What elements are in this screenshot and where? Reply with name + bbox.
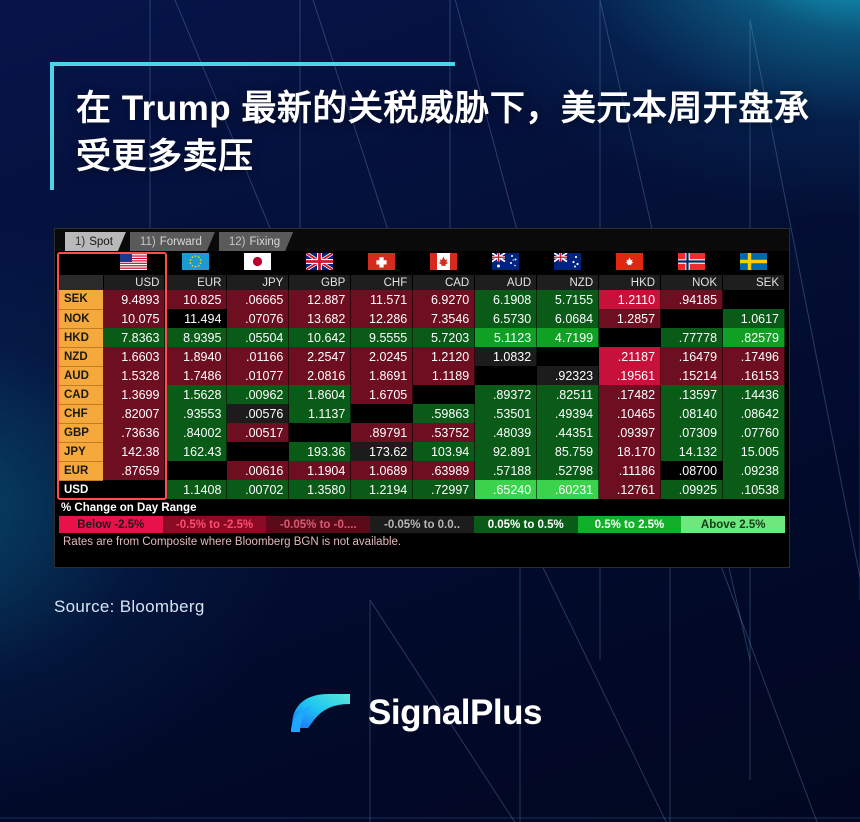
headline-accent-bar-top: [50, 62, 455, 66]
legend-item-3: -0.05% to 0.0..: [370, 516, 474, 533]
row-label-cad[interactable]: CAD: [59, 385, 103, 404]
rate-cell-eur-nok[interactable]: .08700: [661, 461, 723, 480]
tab-label: Fixing: [250, 236, 281, 248]
rate-cell-sek-nzd[interactable]: 5.7155: [537, 290, 599, 309]
rate-cell-nzd-gbp[interactable]: 2.2547: [289, 347, 351, 366]
flag-nz: [537, 253, 599, 275]
rate-cell-cad-gbp[interactable]: 1.8604: [289, 385, 351, 404]
heatmap-legend: % Change on Day Range Below -2.5%-0.5% t…: [55, 499, 789, 548]
flag-jp: [227, 253, 289, 275]
rate-cell-nok-chf[interactable]: 12.286: [351, 309, 413, 328]
rate-cell-nok-cad[interactable]: 7.3546: [413, 309, 475, 328]
legend-item-2: -0.05% to -0....: [266, 516, 370, 533]
rate-cell-gbp-hkd[interactable]: .09397: [599, 423, 661, 442]
row-label-hkd[interactable]: HKD: [59, 328, 103, 347]
rate-cell-nzd-aud[interactable]: 1.0832: [475, 347, 537, 366]
rate-cell-nok-aud[interactable]: 6.5730: [475, 309, 537, 328]
rate-cell-sek-usd[interactable]: 9.4893: [103, 290, 165, 309]
rate-cell-nzd-usd[interactable]: 1.6603: [103, 347, 165, 366]
brand-name: SignalPlus: [368, 693, 542, 733]
rate-cell-cad-usd[interactable]: 1.3699: [103, 385, 165, 404]
rate-cell-sek-cad[interactable]: 6.9270: [413, 290, 475, 309]
rate-cell-hkd-nzd[interactable]: 4.7199: [537, 328, 599, 347]
rate-cell-chf-nzd[interactable]: .49394: [537, 404, 599, 423]
flag-no: [661, 253, 723, 275]
legend-title: % Change on Day Range: [59, 502, 785, 514]
rate-cell-usd-usd[interactable]: [103, 480, 165, 499]
rate-cell-eur-sek[interactable]: .09238: [723, 461, 785, 480]
rate-cell-gbp-aud[interactable]: .48039: [475, 423, 537, 442]
rate-cell-nzd-jpy[interactable]: .01166: [227, 347, 289, 366]
rate-cell-nzd-chf[interactable]: 2.0245: [351, 347, 413, 366]
rate-cell-usd-chf[interactable]: 1.2194: [351, 480, 413, 499]
rate-cell-aud-nok[interactable]: .15214: [661, 366, 723, 385]
legend-footnote: Rates are from Composite where Bloomberg…: [59, 533, 785, 548]
rate-cell-hkd-nok[interactable]: .77778: [661, 328, 723, 347]
rate-cell-sek-gbp[interactable]: 12.887: [289, 290, 351, 309]
rate-cell-usd-nzd[interactable]: .60231: [537, 480, 599, 499]
column-header-gbp[interactable]: GBP: [289, 275, 351, 290]
rate-cell-eur-aud[interactable]: .57188: [475, 461, 537, 480]
rate-cell-cad-jpy[interactable]: .00962: [227, 385, 289, 404]
rate-cell-gbp-cad[interactable]: .53752: [413, 423, 475, 442]
source-label: Source: Bloomberg: [54, 597, 205, 617]
rate-cell-jpy-jpy[interactable]: [227, 442, 289, 461]
rate-cell-usd-cad[interactable]: .72997: [413, 480, 475, 499]
headline-block: 在 Trump 最新的关税威胁下，美元本周开盘承受更多卖压: [50, 62, 810, 181]
signalplus-wave-logo-icon: [288, 688, 354, 738]
flag-au: [475, 253, 537, 275]
rate-cell-aud-gbp[interactable]: 2.0816: [289, 366, 351, 385]
rate-cell-eur-jpy[interactable]: .00616: [227, 461, 289, 480]
rate-cell-hkd-cad[interactable]: 5.7203: [413, 328, 475, 347]
rate-cell-jpy-nzd[interactable]: 85.759: [537, 442, 599, 461]
table-head: USDEURJPYGBPCHFCADAUDNZDHKDNOKSEK: [59, 253, 785, 290]
tab-label: Forward: [160, 236, 202, 248]
rate-cell-sek-aud[interactable]: 6.1908: [475, 290, 537, 309]
legend-item-0: Below -2.5%: [59, 516, 163, 533]
rate-cell-nok-hkd[interactable]: 1.2857: [599, 309, 661, 328]
rate-cell-chf-jpy[interactable]: .00576: [227, 404, 289, 423]
rate-cell-usd-gbp[interactable]: 1.3580: [289, 480, 351, 499]
rate-cell-sek-chf[interactable]: 11.571: [351, 290, 413, 309]
rate-cell-cad-hkd[interactable]: .17482: [599, 385, 661, 404]
rate-cell-sek-hkd[interactable]: 1.2110: [599, 290, 661, 309]
rate-cell-jpy-usd[interactable]: 142.38: [103, 442, 165, 461]
table-row: GBP.73636.84002.00517.89791.53752.48039.…: [59, 423, 785, 442]
rate-cell-chf-eur[interactable]: .93553: [165, 404, 227, 423]
rate-cell-chf-gbp[interactable]: 1.1137: [289, 404, 351, 423]
table-row: AUD1.53281.7486.010772.08161.86911.1189.…: [59, 366, 785, 385]
rate-cell-jpy-aud[interactable]: 92.891: [475, 442, 537, 461]
rate-cell-aud-cad[interactable]: 1.1189: [413, 366, 475, 385]
column-header-usd[interactable]: USD: [103, 275, 165, 290]
rate-cell-aud-sek[interactable]: .16153: [723, 366, 785, 385]
rate-cell-jpy-nok[interactable]: 14.132: [661, 442, 723, 461]
rate-cell-chf-nok[interactable]: .08140: [661, 404, 723, 423]
flag-gb: [289, 253, 351, 275]
rate-cell-aud-chf[interactable]: 1.8691: [351, 366, 413, 385]
rate-cell-nok-jpy[interactable]: .07076: [227, 309, 289, 328]
rate-cell-usd-eur[interactable]: 1.1408: [165, 480, 227, 499]
rate-cell-nzd-nok[interactable]: .16479: [661, 347, 723, 366]
row-label-eur[interactable]: EUR: [59, 461, 103, 480]
table-row: NOK10.07511.494.0707613.68212.2867.35466…: [59, 309, 785, 328]
fx-matrix-wrapper: USDEURJPYGBPCHFCADAUDNZDHKDNOKSEK SEK9.4…: [55, 251, 789, 499]
column-header-jpy[interactable]: JPY: [227, 275, 289, 290]
rate-cell-gbp-eur[interactable]: .84002: [165, 423, 227, 442]
rate-cell-sek-nok[interactable]: .94185: [661, 290, 723, 309]
row-label-nok[interactable]: NOK: [59, 309, 103, 328]
rate-cell-hkd-eur[interactable]: 8.9395: [165, 328, 227, 347]
rate-cell-cad-nzd[interactable]: .82511: [537, 385, 599, 404]
column-header-aud[interactable]: AUD: [475, 275, 537, 290]
rate-cell-eur-gbp[interactable]: 1.1904: [289, 461, 351, 480]
rate-cell-jpy-chf[interactable]: 173.62: [351, 442, 413, 461]
row-header-corner: [59, 275, 103, 290]
rate-cell-hkd-hkd[interactable]: [599, 328, 661, 347]
headline-accent-bar-left: [50, 62, 54, 190]
rate-cell-eur-hkd[interactable]: .11186: [599, 461, 661, 480]
column-header-chf[interactable]: CHF: [351, 275, 413, 290]
column-header-hkd[interactable]: HKD: [599, 275, 661, 290]
rate-cell-aud-eur[interactable]: 1.7486: [165, 366, 227, 385]
table-row: CAD1.36991.5628.009621.86041.6705.89372.…: [59, 385, 785, 404]
rate-cell-jpy-hkd[interactable]: 18.170: [599, 442, 661, 461]
table-body: SEK9.489310.825.0666512.88711.5716.92706…: [59, 290, 785, 499]
page-title: 在 Trump 最新的关税威胁下，美元本周开盘承受更多卖压: [76, 85, 810, 181]
rate-cell-hkd-usd[interactable]: 7.8363: [103, 328, 165, 347]
flag-row-corner: [59, 253, 103, 275]
rate-cell-usd-jpy[interactable]: .00702: [227, 480, 289, 499]
rate-cell-cad-chf[interactable]: 1.6705: [351, 385, 413, 404]
flag-us: [103, 253, 165, 275]
column-header-row: USDEURJPYGBPCHFCADAUDNZDHKDNOKSEK: [59, 275, 785, 290]
rate-cell-gbp-usd[interactable]: .73636: [103, 423, 165, 442]
rate-cell-usd-sek[interactable]: .10538: [723, 480, 785, 499]
rate-cell-nzd-nzd[interactable]: [537, 347, 599, 366]
rate-cell-cad-aud[interactable]: .89372: [475, 385, 537, 404]
tab-label: Spot: [89, 236, 113, 248]
rate-cell-eur-chf[interactable]: 1.0689: [351, 461, 413, 480]
rate-cell-aud-nzd[interactable]: .92323: [537, 366, 599, 385]
rate-cell-usd-nok[interactable]: .09925: [661, 480, 723, 499]
rate-cell-nok-usd[interactable]: 10.075: [103, 309, 165, 328]
rate-cell-chf-cad[interactable]: .59863: [413, 404, 475, 423]
rate-cell-jpy-sek[interactable]: 15.005: [723, 442, 785, 461]
rate-cell-gbp-chf[interactable]: .89791: [351, 423, 413, 442]
rate-cell-nzd-eur[interactable]: 1.8940: [165, 347, 227, 366]
tab-number: 11): [140, 236, 156, 248]
rate-cell-hkd-chf[interactable]: 9.5555: [351, 328, 413, 347]
tab-forward[interactable]: 11)Forward: [130, 232, 215, 251]
rate-cell-eur-usd[interactable]: .87659: [103, 461, 165, 480]
tab-fixing[interactable]: 12)Fixing: [219, 232, 293, 251]
row-label-aud[interactable]: AUD: [59, 366, 103, 385]
rate-cell-hkd-gbp[interactable]: 10.642: [289, 328, 351, 347]
rate-cell-hkd-aud[interactable]: 5.1123: [475, 328, 537, 347]
rate-cell-hkd-sek[interactable]: .82579: [723, 328, 785, 347]
rate-cell-usd-hkd[interactable]: .12761: [599, 480, 661, 499]
table-row: NZD1.66031.8940.011662.25472.02451.21201…: [59, 347, 785, 366]
rate-cell-cad-eur[interactable]: 1.5628: [165, 385, 227, 404]
rate-cell-nzd-hkd[interactable]: .21187: [599, 347, 661, 366]
rate-cell-cad-cad[interactable]: [413, 385, 475, 404]
rate-cell-sek-jpy[interactable]: .06665: [227, 290, 289, 309]
legend-item-5: 0.5% to 2.5%: [578, 516, 682, 533]
rate-cell-nzd-sek[interactable]: .17496: [723, 347, 785, 366]
table-row: SEK9.489310.825.0666512.88711.5716.92706…: [59, 290, 785, 309]
column-header-nok[interactable]: NOK: [661, 275, 723, 290]
bloomberg-fx-panel: 1)Spot11)Forward12)Fixing USDEURJPYGBPCH…: [54, 228, 790, 568]
rate-cell-jpy-cad[interactable]: 103.94: [413, 442, 475, 461]
row-label-sek[interactable]: SEK: [59, 290, 103, 309]
rate-cell-nzd-cad[interactable]: 1.2120: [413, 347, 475, 366]
flag-eu: [165, 253, 227, 275]
legend-item-4: 0.05% to 0.5%: [474, 516, 578, 533]
rate-cell-usd-aud[interactable]: .65240: [475, 480, 537, 499]
rate-cell-nok-eur[interactable]: 11.494: [165, 309, 227, 328]
rate-cell-gbp-gbp[interactable]: [289, 423, 351, 442]
rate-cell-gbp-nok[interactable]: .07309: [661, 423, 723, 442]
rate-cell-aud-aud[interactable]: [475, 366, 537, 385]
row-label-chf[interactable]: CHF: [59, 404, 103, 423]
column-header-sek[interactable]: SEK: [723, 275, 785, 290]
rate-cell-cad-nok[interactable]: .13597: [661, 385, 723, 404]
tab-number: 12): [229, 236, 246, 248]
rate-cell-gbp-nzd[interactable]: .44351: [537, 423, 599, 442]
row-label-nzd[interactable]: NZD: [59, 347, 103, 366]
row-label-usd[interactable]: USD: [59, 480, 103, 499]
row-label-gbp[interactable]: GBP: [59, 423, 103, 442]
rate-cell-jpy-gbp[interactable]: 193.36: [289, 442, 351, 461]
rate-cell-chf-sek[interactable]: .08642: [723, 404, 785, 423]
rate-cell-chf-chf[interactable]: [351, 404, 413, 423]
table-row: EUR.87659.006161.19041.0689.63989.57188.…: [59, 461, 785, 480]
tab-number: 1): [75, 236, 85, 248]
rate-cell-chf-hkd[interactable]: .10465: [599, 404, 661, 423]
rate-cell-chf-aud[interactable]: .53501: [475, 404, 537, 423]
flag-ca: [413, 253, 475, 275]
rate-cell-chf-usd[interactable]: .82007: [103, 404, 165, 423]
rate-cell-sek-sek[interactable]: [723, 290, 785, 309]
rate-cell-nok-sek[interactable]: 1.0617: [723, 309, 785, 328]
column-header-cad[interactable]: CAD: [413, 275, 475, 290]
row-label-jpy[interactable]: JPY: [59, 442, 103, 461]
legend-swatch-row: Below -2.5%-0.5% to -2.5%-0.05% to -0...…: [59, 516, 785, 533]
rate-cell-aud-hkd[interactable]: .19561: [599, 366, 661, 385]
flag-ch: [351, 253, 413, 275]
rate-cell-aud-usd[interactable]: 1.5328: [103, 366, 165, 385]
legend-item-6: Above 2.5%: [681, 516, 785, 533]
rate-cell-jpy-eur[interactable]: 162.43: [165, 442, 227, 461]
rate-cell-nok-gbp[interactable]: 13.682: [289, 309, 351, 328]
brand-logo: SignalPlus: [288, 688, 542, 738]
rate-cell-eur-nzd[interactable]: .52798: [537, 461, 599, 480]
table-row: USD1.1408.007021.35801.2194.72997.65240.…: [59, 480, 785, 499]
flag-se: [723, 253, 785, 275]
rate-cell-eur-eur[interactable]: [165, 461, 227, 480]
flag-row: [59, 253, 785, 275]
rate-cell-eur-cad[interactable]: .63989: [413, 461, 475, 480]
legend-item-1: -0.5% to -2.5%: [163, 516, 267, 533]
table-row: JPY142.38162.43193.36173.62103.9492.8918…: [59, 442, 785, 461]
fx-cross-rate-table: USDEURJPYGBPCHFCADAUDNZDHKDNOKSEK SEK9.4…: [59, 253, 785, 499]
flag-hk: [599, 253, 661, 275]
table-row: HKD7.83638.9395.0550410.6429.55555.72035…: [59, 328, 785, 347]
panel-tab-bar: 1)Spot11)Forward12)Fixing: [55, 229, 789, 251]
rate-cell-cad-sek[interactable]: .14436: [723, 385, 785, 404]
tab-spot[interactable]: 1)Spot: [65, 232, 126, 251]
column-header-nzd[interactable]: NZD: [537, 275, 599, 290]
rate-cell-nok-nok[interactable]: [661, 309, 723, 328]
table-row: CHF.82007.93553.005761.1137.59863.53501.…: [59, 404, 785, 423]
rate-cell-sek-eur[interactable]: 10.825: [165, 290, 227, 309]
rate-cell-gbp-jpy[interactable]: .00517: [227, 423, 289, 442]
column-header-eur[interactable]: EUR: [165, 275, 227, 290]
rate-cell-hkd-jpy[interactable]: .05504: [227, 328, 289, 347]
rate-cell-aud-jpy[interactable]: .01077: [227, 366, 289, 385]
rate-cell-nok-nzd[interactable]: 6.0684: [537, 309, 599, 328]
rate-cell-gbp-sek[interactable]: .07760: [723, 423, 785, 442]
